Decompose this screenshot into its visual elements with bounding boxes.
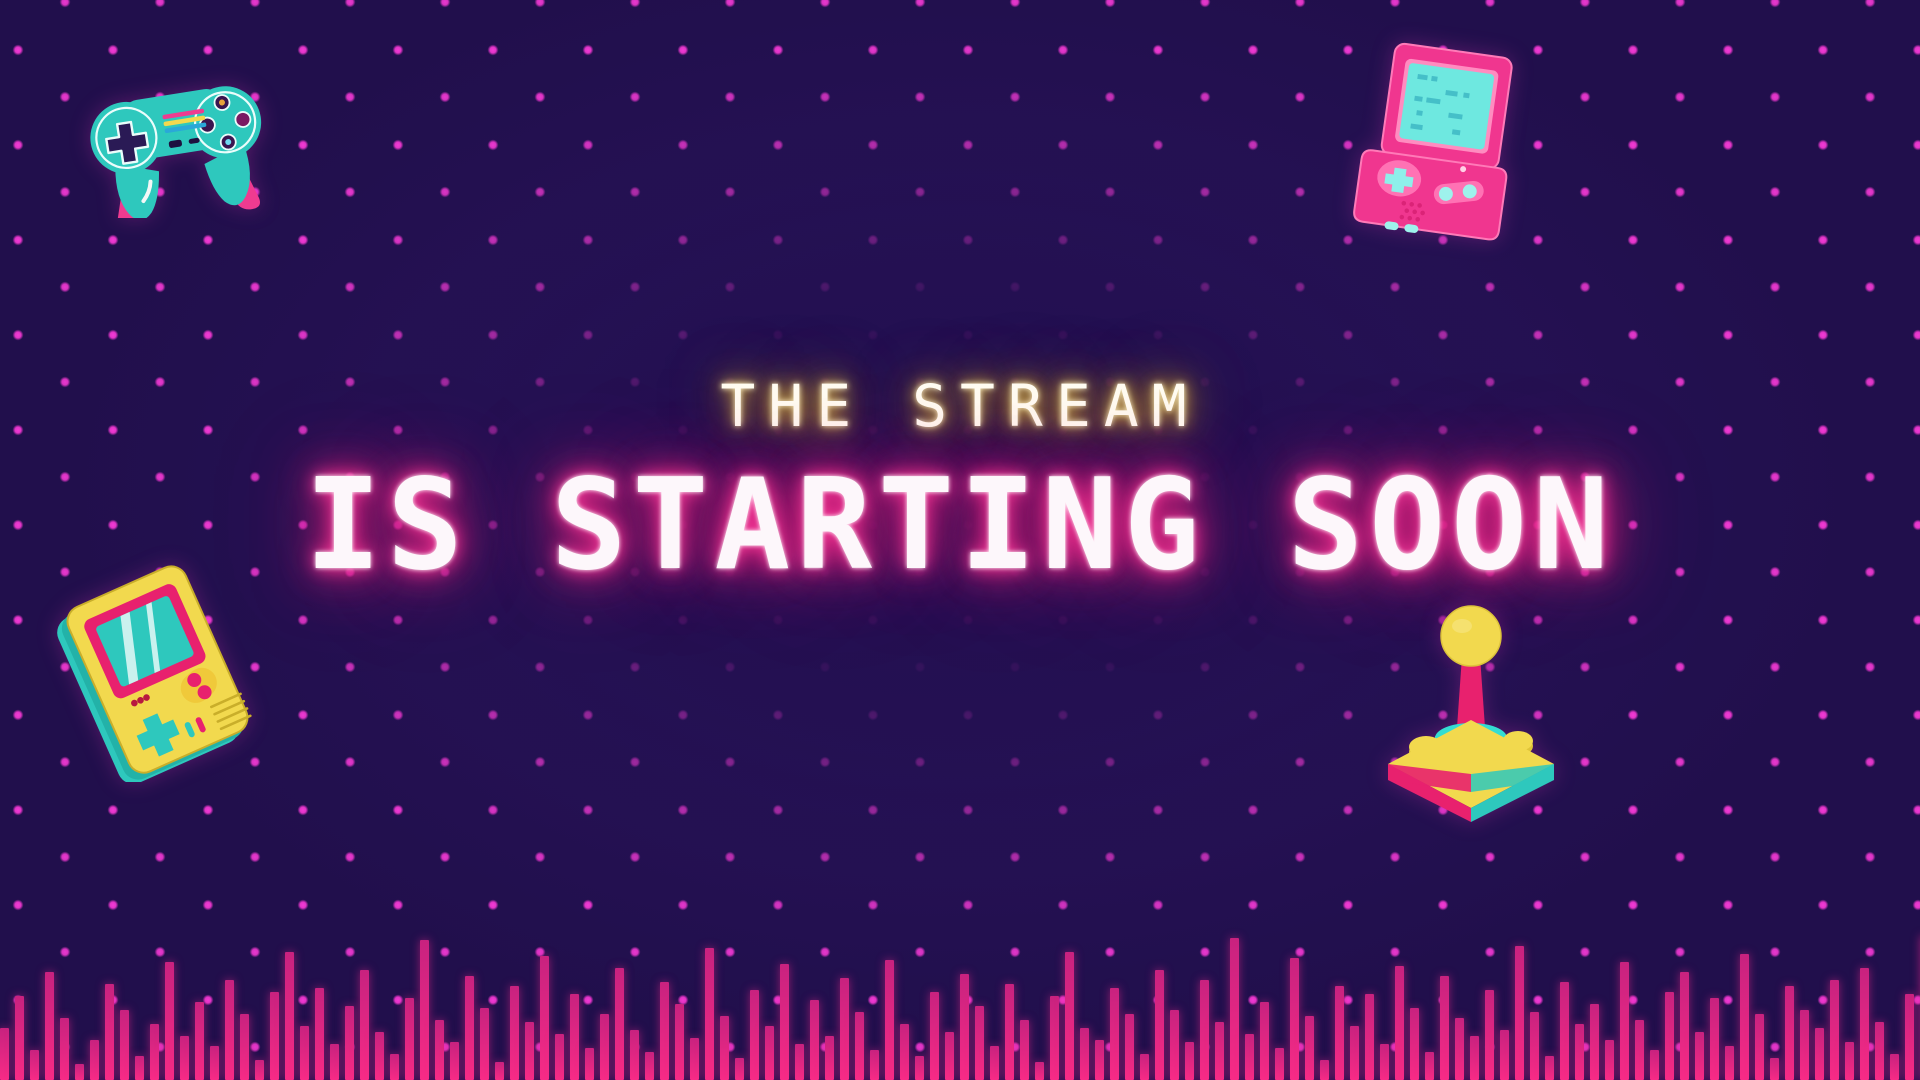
equalizer-bar <box>105 984 114 1080</box>
equalizer-bar <box>1080 1028 1089 1080</box>
equalizer-bar <box>1365 994 1374 1080</box>
equalizer-bar <box>660 982 669 1080</box>
equalizer-bar <box>750 990 759 1080</box>
equalizer-bar <box>705 948 714 1080</box>
equalizer-bar <box>1695 1032 1704 1080</box>
equalizer-bar <box>1110 988 1119 1080</box>
equalizer-bar <box>1530 1012 1539 1080</box>
equalizer-bar <box>510 986 519 1080</box>
equalizer-bar <box>675 1004 684 1080</box>
equalizer-bar <box>1335 986 1344 1080</box>
equalizer-bar <box>225 980 234 1080</box>
equalizer-bar <box>1590 1004 1599 1080</box>
equalizer-bar <box>1185 1042 1194 1080</box>
equalizer-bar <box>1755 1014 1764 1080</box>
equalizer-bar <box>780 964 789 1080</box>
equalizer-bar <box>165 962 174 1080</box>
equalizer-bar <box>540 956 549 1080</box>
equalizer-bar <box>210 1046 219 1080</box>
equalizer-bar <box>1290 958 1299 1080</box>
stream-starting-soon-overlay: THE STREAM IS STARTING SOON <box>0 0 1920 1080</box>
equalizer-bar <box>930 992 939 1080</box>
equalizer-bar <box>1215 1022 1224 1080</box>
equalizer-bar <box>1845 1042 1854 1080</box>
equalizer-bar <box>1350 1026 1359 1080</box>
equalizer-bar <box>570 994 579 1080</box>
equalizer-bar <box>630 1030 639 1080</box>
equalizer-bar <box>375 1032 384 1080</box>
equalizer-bar <box>525 1022 534 1080</box>
equalizer-bar <box>840 978 849 1080</box>
equalizer-bar <box>1785 986 1794 1080</box>
equalizer-bar <box>1860 968 1869 1080</box>
equalizer-bar <box>480 1008 489 1080</box>
equalizer-bar <box>1260 1002 1269 1080</box>
background-dot-grid-offset <box>0 0 1920 1080</box>
equalizer-bar <box>240 1014 249 1080</box>
equalizer-bar <box>915 1056 924 1080</box>
equalizer-bar <box>555 1034 564 1080</box>
equalizer-bar <box>825 1036 834 1080</box>
equalizer-bar <box>1800 1010 1809 1080</box>
background-center-vignette <box>0 0 1920 1080</box>
equalizer-bar <box>1500 1030 1509 1080</box>
equalizer-bar <box>1470 1036 1479 1080</box>
equalizer-bar <box>735 1058 744 1080</box>
equalizer-bar <box>315 988 324 1080</box>
equalizer-bar <box>900 1024 909 1080</box>
headline-block: THE STREAM IS STARTING SOON <box>0 372 1920 588</box>
equalizer-bar <box>1170 1010 1179 1080</box>
equalizer-bar <box>150 1024 159 1080</box>
equalizer-bar <box>405 998 414 1080</box>
equalizer-bar <box>420 940 429 1080</box>
equalizer-bar <box>1140 1054 1149 1080</box>
gamepad-icon <box>72 58 282 218</box>
equalizer-bar <box>360 970 369 1080</box>
equalizer-bar <box>120 1010 129 1080</box>
equalizer-bar <box>300 1026 309 1080</box>
equalizer-bar <box>1725 1046 1734 1080</box>
equalizer-bar <box>615 968 624 1080</box>
equalizer-bar <box>690 1038 699 1080</box>
equalizer-bar <box>795 1044 804 1080</box>
svg-text:●●●: ●●● <box>128 690 152 710</box>
equalizer-bar <box>1665 992 1674 1080</box>
equalizer-bar <box>885 960 894 1080</box>
equalizer-bar <box>0 1028 9 1080</box>
handheld-console-icon <box>1352 42 1532 252</box>
equalizer-bar <box>1710 998 1719 1080</box>
equalizer-bar <box>1395 966 1404 1080</box>
equalizer-bar <box>645 1052 654 1080</box>
equalizer-bar <box>450 1042 459 1080</box>
equalizer-bar <box>765 1026 774 1080</box>
equalizer-bar <box>1050 996 1059 1080</box>
equalizer-bar <box>75 1064 84 1080</box>
equalizer-bar <box>1830 980 1839 1080</box>
equalizer-bar <box>810 1000 819 1080</box>
equalizer-bar <box>1545 1056 1554 1080</box>
equalizer-bar <box>1740 954 1749 1080</box>
equalizer-bar <box>1560 982 1569 1080</box>
equalizer-bar <box>255 1060 264 1080</box>
equalizer-bar <box>1650 1050 1659 1080</box>
equalizer-bar <box>330 1044 339 1080</box>
equalizer-bar <box>1890 1054 1899 1080</box>
equalizer-bar <box>30 1050 39 1080</box>
equalizer-bar <box>870 1050 879 1080</box>
equalizer-bar <box>1485 990 1494 1080</box>
equalizer-bar <box>1035 1062 1044 1080</box>
equalizer-bar <box>945 1032 954 1080</box>
equalizer-bar <box>45 972 54 1080</box>
equalizer-bar <box>855 1012 864 1080</box>
arcade-joystick-icon <box>1370 592 1570 822</box>
headline-line-primary: THE STREAM <box>720 372 1199 440</box>
equalizer-bar <box>495 1062 504 1080</box>
equalizer-bar <box>1575 1024 1584 1080</box>
equalizer-bar <box>1200 980 1209 1080</box>
equalizer-bar <box>1680 972 1689 1080</box>
equalizer-bar <box>15 996 24 1080</box>
equalizer-bar <box>1905 994 1914 1080</box>
equalizer-bar <box>1620 962 1629 1080</box>
equalizer-bar <box>465 976 474 1080</box>
equalizer-bar <box>1410 1008 1419 1080</box>
equalizer-bar <box>1380 1044 1389 1080</box>
equalizer-bar <box>1020 1020 1029 1080</box>
equalizer-bar <box>285 952 294 1080</box>
equalizer-bar <box>1815 1028 1824 1080</box>
equalizer-bar <box>1095 1040 1104 1080</box>
equalizer-bar <box>600 1014 609 1080</box>
equalizer-bar <box>1125 1014 1134 1080</box>
equalizer-bar <box>1875 1022 1884 1080</box>
equalizer-bar <box>1245 1034 1254 1080</box>
equalizer-bar <box>180 1036 189 1080</box>
equalizer-bar <box>270 992 279 1080</box>
equalizer-bar <box>90 1040 99 1080</box>
equalizer-bar <box>1005 984 1014 1080</box>
portable-console-icon: ●●● <box>42 562 262 782</box>
equalizer-bar <box>135 1056 144 1080</box>
equalizer-bar <box>1440 976 1449 1080</box>
equalizer-bar <box>435 1020 444 1080</box>
background-dot-grid <box>0 0 1920 1080</box>
equalizer-bar <box>720 1016 729 1080</box>
equalizer-bar <box>990 1046 999 1080</box>
equalizer-bar <box>1455 1018 1464 1080</box>
equalizer-bar <box>1320 1060 1329 1080</box>
equalizer-bar <box>1305 1016 1314 1080</box>
audio-equalizer <box>0 820 1920 1080</box>
equalizer-bar <box>1275 1048 1284 1080</box>
equalizer-bar <box>1065 952 1074 1080</box>
equalizer-bar <box>1155 970 1164 1080</box>
equalizer-bar <box>195 1002 204 1080</box>
equalizer-bar <box>1230 938 1239 1080</box>
equalizer-bar <box>975 1006 984 1080</box>
equalizer-bar <box>1770 1058 1779 1080</box>
equalizer-bar <box>1635 1020 1644 1080</box>
equalizer-bar <box>345 1006 354 1080</box>
equalizer-bar <box>1605 1040 1614 1080</box>
equalizer-bar <box>960 974 969 1080</box>
equalizer-bar <box>390 1054 399 1080</box>
equalizer-bar <box>60 1018 69 1080</box>
equalizer-bar <box>1515 946 1524 1080</box>
equalizer-bar <box>585 1048 594 1080</box>
equalizer-bar <box>1425 1052 1434 1080</box>
headline-line-secondary: IS STARTING SOON <box>0 462 1920 588</box>
